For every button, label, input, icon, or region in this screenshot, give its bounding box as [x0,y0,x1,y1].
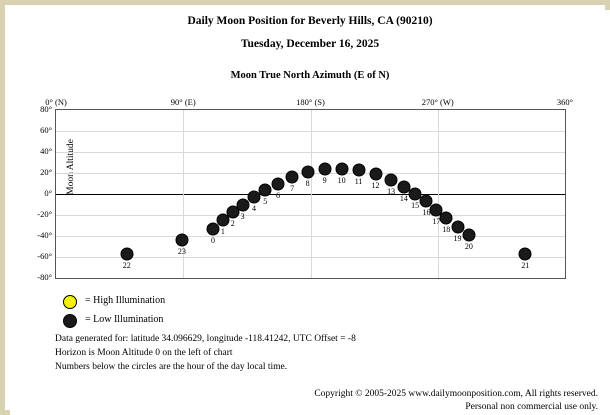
notes-line-3: Numbers below the circles are the hour o… [55,360,575,374]
moon-position-marker [519,247,532,260]
y-axis-tick-label: 40° [18,146,52,156]
hour-label: 3 [241,212,245,221]
legend-row-high: = High Illumination [55,293,475,312]
x-axis-tick-label: 270° (W) [422,97,454,107]
chart-canvas: Daily Moon Position for Beverly Hills, C… [10,10,610,415]
page-subtitle: Tuesday, December 16, 2025 [10,38,610,50]
y-axis-tick-label: -40° [18,230,52,240]
moon-position-marker [286,171,299,184]
y-axis-tick-label: 60° [18,125,52,135]
x-axis-tick-label: 0° (N) [45,97,67,107]
hour-label: 5 [263,197,267,206]
x-axis-tick-label: 360° [557,97,573,107]
page-title: Daily Moon Position for Beverly Hills, C… [10,15,610,27]
y-axis-tick-label: -80° [18,272,52,282]
hour-label: 19 [454,234,462,243]
moon-position-marker [462,228,475,241]
hour-label: 2 [231,219,235,228]
low-illumination-icon [63,314,77,328]
hour-label: 10 [338,176,346,185]
hour-label: 0 [211,236,215,245]
legend-label-high: = High Illumination [85,295,165,306]
hour-label: 23 [178,247,186,256]
y-axis-tick-label: 20° [18,167,52,177]
notes-block: Data generated for: latitude 34.096629, … [55,332,575,374]
legend: = High Illumination = Low Illumination [55,293,475,331]
high-illumination-icon [63,295,77,309]
legend-row-low: = Low Illumination [55,312,475,331]
hour-label: 13 [387,187,395,196]
moon-position-marker [369,168,382,181]
y-axis-title: Moon Altitude [66,107,76,227]
hour-label: 22 [123,261,131,270]
hour-label: 15 [411,201,419,210]
hour-label: 20 [465,242,473,251]
y-axis-tick-label: -20° [18,209,52,219]
y-axis-tick-label: 0° [18,188,52,198]
hour-label: 11 [355,177,363,186]
usage-line: Personal non commercial use only. [38,401,598,414]
chart-page: Daily Moon Position for Beverly Hills, C… [0,0,610,415]
hour-label: 18 [442,225,450,234]
moon-position-marker [120,247,133,260]
moon-position-marker [352,163,365,176]
copyright-line: Copyright © 2005-2025 www.dailymoonposit… [38,388,598,401]
hour-label: 9 [323,176,327,185]
gridline-vertical [311,110,312,278]
x-axis-tick-label: 90° (E) [171,97,196,107]
moon-position-marker [301,165,314,178]
moon-position-marker [259,183,272,196]
notes-line-2: Horizon is Moon Altitude 0 on the left o… [55,346,575,360]
footer-block: Copyright © 2005-2025 www.dailymoonposit… [38,388,598,414]
hour-label: 1 [221,227,225,236]
notes-line-1: Data generated for: latitude 34.096629, … [55,332,575,346]
hour-label: 21 [521,261,529,270]
moon-position-marker [175,234,188,247]
hour-label: 4 [252,204,256,213]
hour-label: 7 [290,184,294,193]
gridline-vertical [438,110,439,278]
legend-label-low: = Low Illumination [85,314,163,325]
hour-label: 12 [372,181,380,190]
moon-position-marker [318,162,331,175]
moon-position-marker [335,162,348,175]
moon-position-marker [385,174,398,187]
hour-label: 14 [400,194,408,203]
y-axis-tick-label: -60° [18,251,52,261]
moon-position-marker [271,177,284,190]
hour-label: 6 [276,191,280,200]
x-axis-title: Moon True North Azimuth (E of N) [10,70,610,81]
x-axis-tick-label: 180° (S) [296,97,325,107]
hour-label: 8 [306,179,310,188]
plot-area: Moon Altitude 80°60°40°20°0°-20°-40°-60°… [55,109,566,279]
